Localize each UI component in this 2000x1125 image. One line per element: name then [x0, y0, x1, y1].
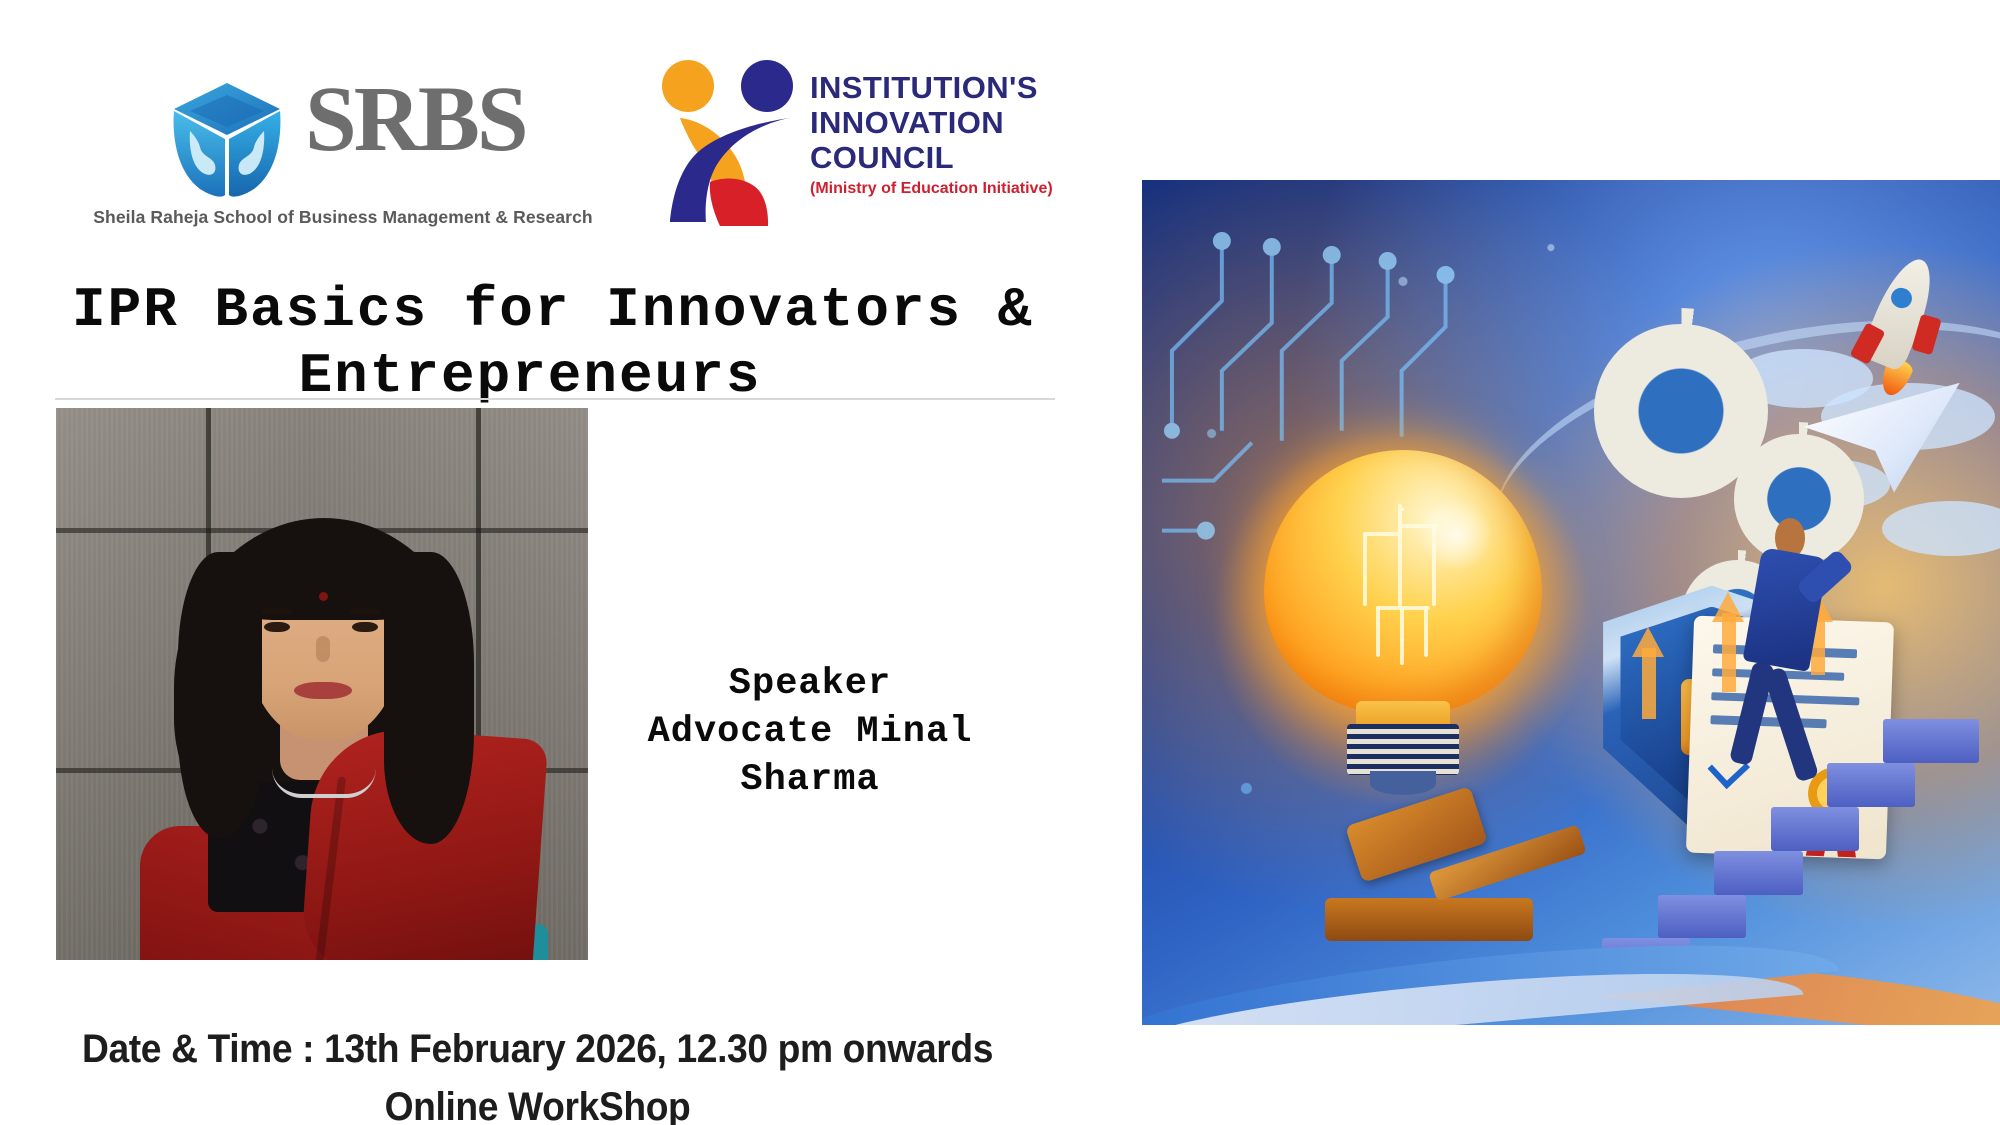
bindi — [319, 592, 328, 601]
iic-line-2: INNOVATION — [810, 105, 1053, 140]
speaker-name-line-1: Advocate Minal — [600, 708, 1020, 756]
speaker-caption: Speaker Advocate Minal Sharma — [600, 660, 1020, 804]
title-line-1: IPR Basics for Innovators & — [0, 278, 1060, 344]
event-mode: Online WorkShop — [38, 1078, 1038, 1125]
mouth — [294, 682, 352, 699]
wave-band — [1142, 772, 2000, 1026]
speaker-name-line-2: Sharma — [600, 756, 1020, 804]
event-poster: SRBS Sheila Raheja School of Business Ma… — [0, 0, 2000, 1125]
iic-people-swoosh-icon — [650, 56, 800, 226]
iic-ministry-subtitle: (Ministry of Education Initiative) — [810, 180, 1053, 198]
eye-left — [264, 622, 290, 632]
nose — [316, 636, 330, 662]
poster-left-column: SRBS Sheila Raheja School of Business Ma… — [0, 0, 1120, 1125]
speaker-label: Speaker — [600, 660, 1020, 708]
srbs-logo: SRBS Sheila Raheja School of Business Ma… — [75, 55, 595, 255]
eyebrow-left — [262, 609, 292, 614]
logo-row: SRBS Sheila Raheja School of Business Ma… — [0, 40, 1120, 255]
title-underline — [55, 398, 1055, 400]
srbs-tagline: Sheila Raheja School of Business Managem… — [83, 207, 603, 228]
eyebrow-right — [350, 609, 380, 614]
hair-left — [178, 552, 262, 838]
climber-leg — [1763, 667, 1820, 783]
iic-text-block: INSTITUTION'S INNOVATION COUNCIL (Minist… — [810, 70, 1053, 198]
climbing-person — [1716, 518, 1855, 805]
srbs-cube-hands-icon — [160, 77, 295, 202]
rocket-icon — [1847, 256, 1951, 400]
iic-line-3: COUNCIL — [810, 140, 1053, 175]
ipr-innovation-illustration: ✓ — [1142, 180, 2000, 1025]
speaker-figure — [112, 496, 532, 960]
iic-line-1: INSTITUTION'S — [810, 70, 1053, 105]
bulb-circuit-filament — [1336, 504, 1470, 700]
bulb-screw-base — [1347, 724, 1458, 775]
up-arrow-icon — [1632, 627, 1664, 657]
poster-title: IPR Basics for Innovators & Entrepreneur… — [0, 278, 1060, 409]
hair-right — [384, 552, 474, 844]
up-arrow-stem — [1642, 648, 1656, 718]
srbs-wordmark: SRBS — [305, 73, 526, 166]
eye-right — [352, 622, 378, 632]
iic-logo: INSTITUTION'S INNOVATION COUNCIL (Minist… — [650, 48, 1070, 238]
poster-footer: Date & Time : 13th February 2026, 12.30 … — [0, 1020, 1075, 1125]
glowing-lightbulb-icon — [1264, 450, 1542, 788]
necklace — [272, 768, 376, 798]
event-datetime: Date & Time : 13th February 2026, 12.30 … — [38, 1020, 1038, 1078]
speaker-photo — [56, 408, 588, 960]
